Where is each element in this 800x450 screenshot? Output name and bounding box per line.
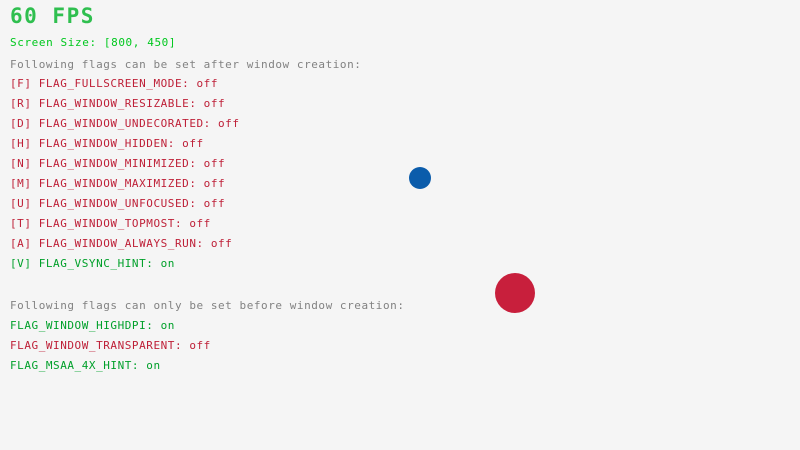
flag-row-flag-window-topmost[interactable]: [T] FLAG_WINDOW_TOPMOST: off bbox=[10, 218, 211, 229]
raylib-window-canvas: 60 FPS Screen Size: [800, 450] Following… bbox=[0, 0, 800, 450]
flag-row-flag-window-undecorated[interactable]: [D] FLAG_WINDOW_UNDECORATED: off bbox=[10, 118, 240, 129]
flag-row-flag-window-hidden[interactable]: [H] FLAG_WINDOW_HIDDEN: off bbox=[10, 138, 204, 149]
ball-blue bbox=[409, 167, 431, 189]
flag-row-flag-fullscreen-mode[interactable]: [F] FLAG_FULLSCREEN_MODE: off bbox=[10, 78, 218, 89]
flag-row-flag-window-always-run[interactable]: [A] FLAG_WINDOW_ALWAYS_RUN: off bbox=[10, 238, 232, 249]
flag-row-flag-window-highdpi: FLAG_WINDOW_HIGHDPI: on bbox=[10, 320, 175, 331]
section-heading-after-creation: Following flags can be set after window … bbox=[10, 59, 361, 70]
section-heading-before-creation: Following flags can only be set before w… bbox=[10, 300, 405, 311]
ball-red bbox=[495, 273, 535, 313]
flag-row-flag-msaa-4x-hint: FLAG_MSAA_4X_HINT: on bbox=[10, 360, 161, 371]
flag-row-flag-window-unfocused[interactable]: [U] FLAG_WINDOW_UNFOCUSED: off bbox=[10, 198, 225, 209]
flag-row-flag-window-minimized[interactable]: [N] FLAG_WINDOW_MINIMIZED: off bbox=[10, 158, 225, 169]
flag-row-flag-window-resizable[interactable]: [R] FLAG_WINDOW_RESIZABLE: off bbox=[10, 98, 225, 109]
flag-row-flag-window-maximized[interactable]: [M] FLAG_WINDOW_MAXIMIZED: off bbox=[10, 178, 225, 189]
flag-row-flag-vsync-hint[interactable]: [V] FLAG_VSYNC_HINT: on bbox=[10, 258, 175, 269]
screen-size-label: Screen Size: [800, 450] bbox=[10, 37, 176, 48]
flag-row-flag-window-transparent: FLAG_WINDOW_TRANSPARENT: off bbox=[10, 340, 211, 351]
fps-counter: 60 FPS bbox=[10, 6, 95, 27]
